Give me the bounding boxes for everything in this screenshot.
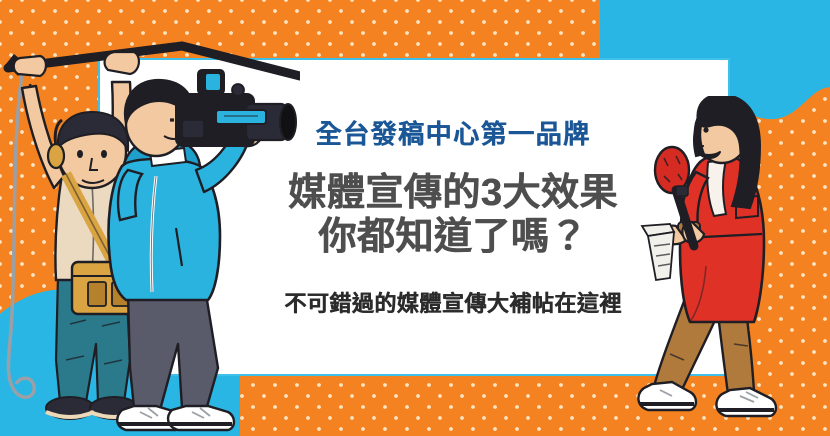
sneaker-icon	[638, 382, 696, 410]
boom-pole-icon	[6, 46, 300, 76]
news-crew-illustration	[0, 24, 300, 436]
notepad-icon	[642, 224, 674, 280]
sneaker-icon	[716, 388, 776, 416]
sneaker-icon	[168, 406, 234, 430]
reporter-illustration	[636, 96, 796, 436]
camera-operator-figure	[109, 70, 297, 430]
banner-root: 全台發稿中心第一品牌 媒體宣傳的3大效果 你都知道了嗎？ 不可錯過的媒體宣傳大補…	[0, 0, 830, 436]
video-camera-icon	[176, 70, 296, 146]
